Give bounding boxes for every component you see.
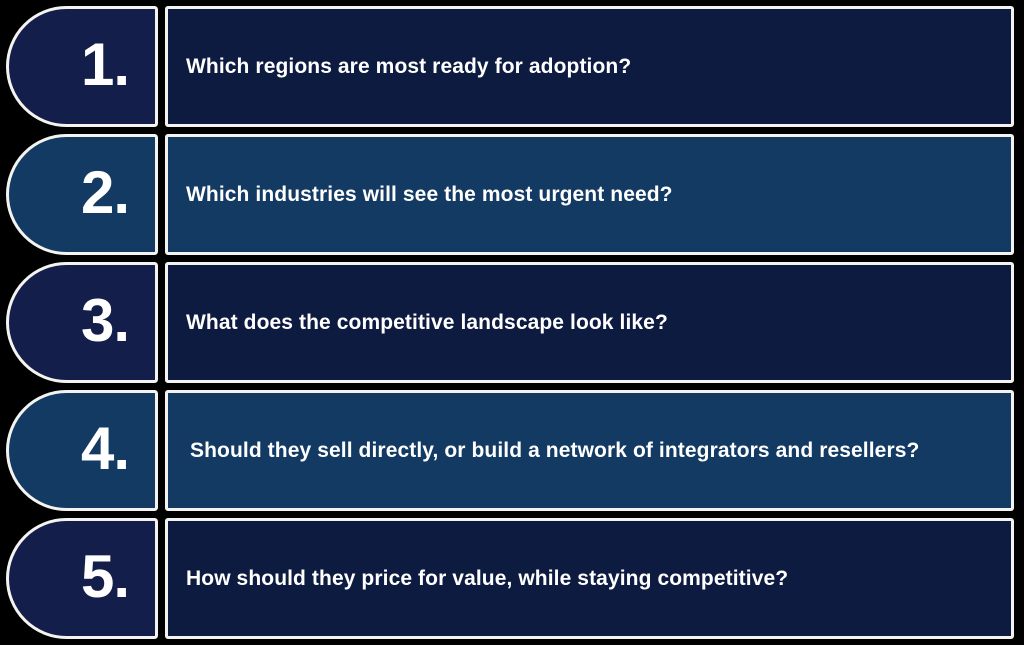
question-panel-4: Should they sell directly, or build a ne… bbox=[165, 390, 1014, 511]
question-text: How should they price for value, while s… bbox=[186, 564, 991, 594]
number-badge-label: 2. bbox=[81, 163, 129, 227]
question-panel-3: What does the competitive landscape look… bbox=[165, 262, 1014, 383]
list-item: 5. How should they price for value, whil… bbox=[6, 518, 1014, 639]
list-item: 2. Which industries will see the most ur… bbox=[6, 134, 1014, 255]
number-badge-4: 4. bbox=[6, 390, 158, 511]
list-item: 4. Should they sell directly, or build a… bbox=[6, 390, 1014, 511]
question-panel-2: Which industries will see the most urgen… bbox=[165, 134, 1014, 255]
number-badge-3: 3. bbox=[6, 262, 158, 383]
number-badge-label: 4. bbox=[81, 419, 129, 483]
list-item: 1. Which regions are most ready for adop… bbox=[6, 6, 1014, 127]
questions-board: 1. Which regions are most ready for adop… bbox=[0, 0, 1024, 645]
number-badge-2: 2. bbox=[6, 134, 158, 255]
question-text: What does the competitive landscape look… bbox=[186, 308, 991, 338]
number-badge-label: 3. bbox=[81, 291, 129, 355]
question-panel-5: How should they price for value, while s… bbox=[165, 518, 1014, 639]
question-text: Which regions are most ready for adoptio… bbox=[186, 52, 991, 82]
number-badge-5: 5. bbox=[6, 518, 158, 639]
number-badge-label: 5. bbox=[81, 547, 129, 611]
question-panel-1: Which regions are most ready for adoptio… bbox=[165, 6, 1014, 127]
number-badge-1: 1. bbox=[6, 6, 158, 127]
number-badge-label: 1. bbox=[81, 35, 129, 99]
question-text: Which industries will see the most urgen… bbox=[186, 180, 991, 210]
list-item: 3. What does the competitive landscape l… bbox=[6, 262, 1014, 383]
question-text: Should they sell directly, or build a ne… bbox=[190, 436, 991, 466]
